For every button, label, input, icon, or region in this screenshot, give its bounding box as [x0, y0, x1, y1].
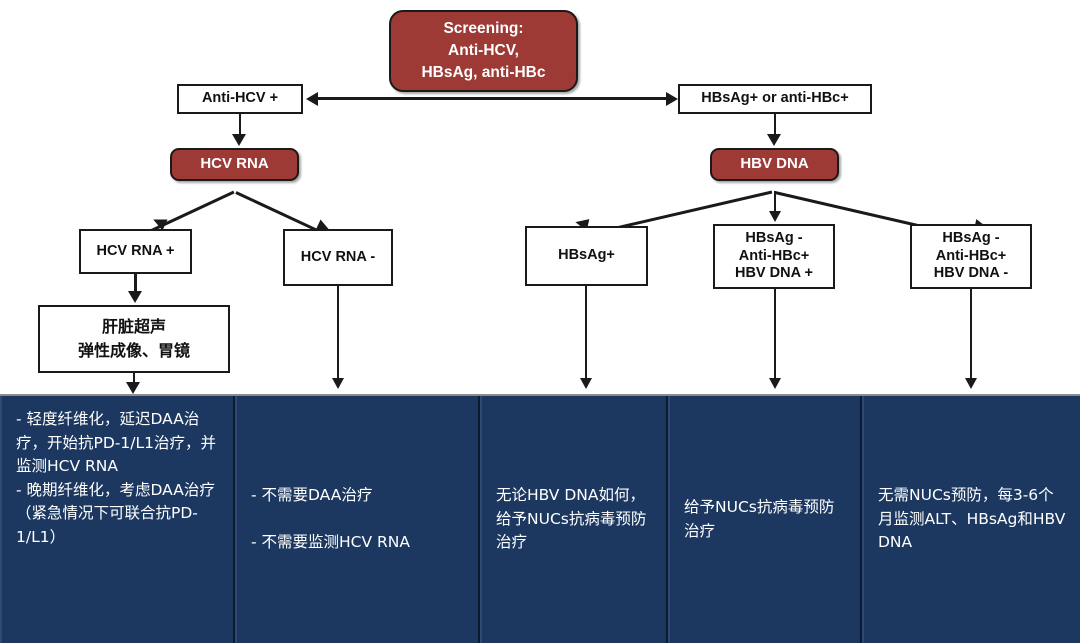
node-hbsag-neg-hbc-pos-dna-pos[interactable]: HBsAg - Anti-HBc+ HBV DNA +: [713, 224, 835, 289]
panel-hbsag-positive[interactable]: 无论HBV DNA如何，给予NUCs抗病毒预防治疗: [480, 396, 668, 643]
connector-hcvrna-split-right: [235, 191, 321, 233]
arrowhead-workup-to-panel1: [126, 382, 140, 394]
outcome-band: - 轻度纤维化，延迟DAA治疗，开始抗PD-1/L1治疗，并监测HCV RNA …: [0, 394, 1080, 643]
hbv-dna-neg-line-2: Anti-HBc+: [936, 248, 1007, 266]
node-hcv-rna-negative[interactable]: HCV RNA -: [283, 229, 393, 286]
node-screening[interactable]: Screening: Anti-HCV, HBsAg, anti-HBc: [389, 10, 578, 92]
hcv-rna-negative-label: HCV RNA -: [301, 249, 375, 267]
node-hbsag-neg-hbc-pos-dna-neg[interactable]: HBsAg - Anti-HBc+ HBV DNA -: [910, 224, 1032, 289]
liver-workup-line-1: 肝脏超声: [102, 315, 166, 339]
panel-hbsag-positive-text: 无论HBV DNA如何，给予NUCs抗病毒预防治疗: [496, 484, 652, 555]
screening-line-2: Anti-HCV,: [448, 40, 519, 62]
connector-hbsagpos-to-panel3: [585, 286, 588, 380]
hbsag-positive-label: HBsAg+: [558, 247, 615, 265]
hbv-dna-neg-line-1: HBsAg -: [942, 230, 999, 248]
arrowhead-hbsagpos-to-panel3: [580, 378, 592, 389]
arrowhead-hbvdnapos-to-panel4: [769, 378, 781, 389]
arrowhead-hbvdna-split-center: [769, 211, 781, 222]
hcv-rna-label: HCV RNA: [200, 155, 268, 173]
panel-hbv-dna-positive[interactable]: 给予NUCs抗病毒预防治疗: [668, 396, 862, 643]
node-hbsag-or-antihbc-positive[interactable]: HBsAg+ or anti-HBc+: [678, 84, 872, 114]
node-hbsag-positive[interactable]: HBsAg+: [525, 226, 648, 286]
panel-hbv-dna-negative[interactable]: 无需NUCs预防，每3-6个月监测ALT、HBsAg和HBV DNA: [862, 396, 1080, 643]
connector-hcvrnaneg-to-panel2: [337, 286, 340, 380]
hbv-dna-pos-line-3: HBV DNA +: [735, 265, 813, 283]
panel-hcv-rna-negative-text: - 不需要DAA治疗 - 不需要监测HCV RNA: [251, 484, 410, 555]
connector-hbvdnapos-to-panel4: [774, 289, 777, 380]
arrowhead-antihcv-to-hcvrna: [232, 134, 246, 146]
node-anti-hcv-positive[interactable]: Anti-HCV +: [177, 84, 303, 114]
node-hcv-rna-positive[interactable]: HCV RNA +: [79, 229, 192, 274]
arrowhead-hbsag-to-hbvdna: [767, 134, 781, 146]
panel-hbv-dna-negative-text: 无需NUCs预防，每3-6个月监测ALT、HBsAg和HBV DNA: [878, 484, 1066, 555]
hbv-dna-label: HBV DNA: [740, 155, 808, 173]
screening-line-3: HBsAg, anti-HBc: [421, 62, 545, 84]
flowchart-canvas: Screening: Anti-HCV, HBsAg, anti-HBc Ant…: [0, 0, 1080, 643]
hbv-dna-pos-line-1: HBsAg -: [745, 230, 802, 248]
panel-hbv-dna-positive-text: 给予NUCs抗病毒预防治疗: [684, 496, 846, 543]
liver-workup-line-2: 弹性成像、胃镜: [78, 339, 190, 363]
panel-hcv-rna-negative[interactable]: - 不需要DAA治疗 - 不需要监测HCV RNA: [235, 396, 480, 643]
arrowhead-right-hbsag: [666, 92, 678, 106]
panel-hcv-rna-positive-text: - 轻度纤维化，延迟DAA治疗，开始抗PD-1/L1治疗，并监测HCV RNA …: [16, 408, 219, 549]
hcv-rna-positive-label: HCV RNA +: [96, 243, 174, 261]
hbv-dna-pos-line-2: Anti-HBc+: [739, 248, 810, 266]
connector-antihcv-to-hcvrna: [239, 114, 242, 136]
hbv-dna-neg-line-3: HBV DNA -: [934, 265, 1008, 283]
screening-line-1: Screening:: [443, 18, 523, 40]
arrowhead-hbvdnaneg-to-panel5: [965, 378, 977, 389]
node-liver-workup[interactable]: 肝脏超声 弹性成像、胃镜: [38, 305, 230, 373]
anti-hcv-positive-label: Anti-HCV +: [202, 90, 278, 108]
connector-horizontal-branch: [316, 97, 668, 100]
arrowhead-left-anti-hcv: [306, 92, 318, 106]
node-hcv-rna[interactable]: HCV RNA: [170, 148, 299, 181]
connector-hbvdna-split-center: [774, 191, 777, 213]
connector-hbvdnaneg-to-panel5: [970, 289, 973, 380]
hbsag-or-antihbc-positive-label: HBsAg+ or anti-HBc+: [701, 90, 848, 108]
connector-hbsag-to-hbvdna: [774, 114, 777, 136]
node-hbv-dna[interactable]: HBV DNA: [710, 148, 839, 181]
arrowhead-hcvrnapos-to-workup: [128, 291, 142, 303]
panel-hcv-rna-positive[interactable]: - 轻度纤维化，延迟DAA治疗，开始抗PD-1/L1治疗，并监测HCV RNA …: [0, 396, 235, 643]
arrowhead-hcvrnaneg-to-panel2: [332, 378, 344, 389]
